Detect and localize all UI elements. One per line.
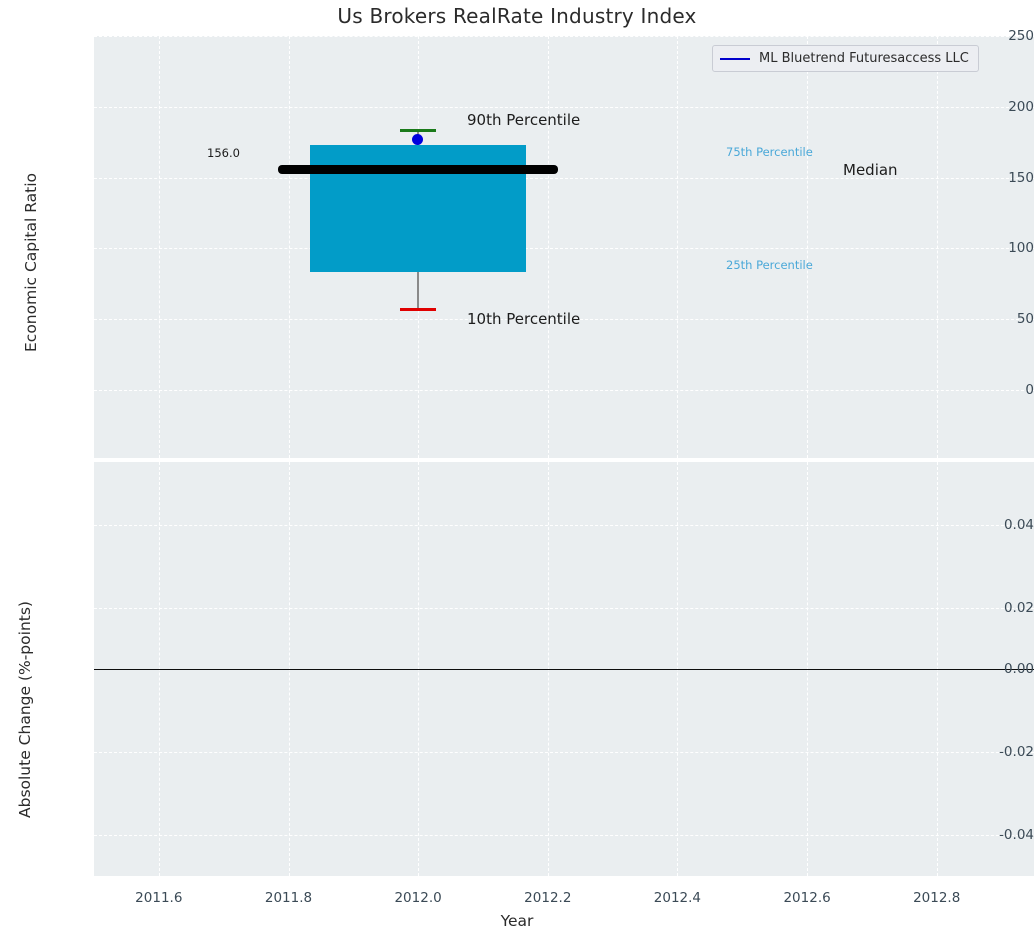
- gridline-h-0.04: [94, 525, 1034, 526]
- xtick-2012.4: 2012.4: [632, 890, 722, 906]
- xtick-2012.8: 2012.8: [892, 890, 982, 906]
- gridline-h--0.02: [94, 752, 1034, 753]
- ytick-50: 50: [954, 311, 1034, 327]
- fund-value-marker[interactable]: [412, 134, 423, 145]
- xtick-2012.0: 2012.0: [373, 890, 463, 906]
- ytick-150: 150: [954, 170, 1034, 186]
- gridline-v-2012.4: [677, 36, 678, 458]
- y-axis-label-top: Economic Capital Ratio: [22, 173, 40, 352]
- gridline-h-250: [94, 36, 1034, 37]
- xtick-2011.8: 2011.8: [244, 890, 334, 906]
- ytick-0: 0: [954, 382, 1034, 398]
- y-axis-label-bottom: Absolute Change (%-points): [16, 601, 34, 818]
- annotation-median-value: 156.0: [207, 146, 240, 160]
- legend-line-icon: [720, 58, 750, 60]
- gridline-v-2011.8: [289, 36, 290, 458]
- xtick-2012.6: 2012.6: [762, 890, 852, 906]
- x-axis-label: Year: [0, 912, 1034, 930]
- zero-reference-line: [94, 669, 1034, 670]
- legend[interactable]: ML Bluetrend Futuresaccess LLC: [712, 45, 979, 72]
- gridline-h-200: [94, 107, 1034, 108]
- gridline-v-2011.6: [159, 36, 160, 458]
- annotation-25th-percentile: 25th Percentile: [726, 258, 813, 272]
- gridline-v-2012.6: [807, 36, 808, 458]
- ytick-250: 250: [954, 28, 1034, 44]
- ytick--0.02: -0.02: [954, 744, 1034, 760]
- ytick-200: 200: [954, 99, 1034, 115]
- gridline-v-2012.2: [548, 36, 549, 458]
- page-title: Us Brokers RealRate Industry Index: [0, 4, 1034, 28]
- ytick-100: 100: [954, 240, 1034, 256]
- gridline-h-0: [94, 390, 1034, 391]
- ytick-0.04: 0.04: [954, 517, 1034, 533]
- median-line: [278, 165, 558, 174]
- bottom-subplot-panel: [94, 462, 1034, 876]
- percentile-10-cap: [400, 308, 436, 311]
- annotation-median: Median: [843, 161, 898, 179]
- percentile-90-cap: [400, 129, 436, 132]
- annotation-10th-percentile: 10th Percentile: [467, 310, 580, 328]
- top-subplot-panel: [94, 36, 1034, 458]
- ytick--0.04: -0.04: [954, 827, 1034, 843]
- annotation-75th-percentile: 75th Percentile: [726, 145, 813, 159]
- gridline-v-2012.8: [937, 36, 938, 458]
- ytick-0.00: 0.00: [954, 661, 1034, 677]
- gridline-h-100: [94, 248, 1034, 249]
- xtick-2011.6: 2011.6: [114, 890, 204, 906]
- legend-item-label: ML Bluetrend Futuresaccess LLC: [759, 51, 969, 66]
- xtick-2012.2: 2012.2: [503, 890, 593, 906]
- figure-canvas: Us Brokers RealRate Industry Index: [0, 0, 1034, 942]
- annotation-90th-percentile: 90th Percentile: [467, 111, 580, 129]
- gridline-h--0.04: [94, 835, 1034, 836]
- ytick-0.02: 0.02: [954, 600, 1034, 616]
- gridline-h-0.02: [94, 608, 1034, 609]
